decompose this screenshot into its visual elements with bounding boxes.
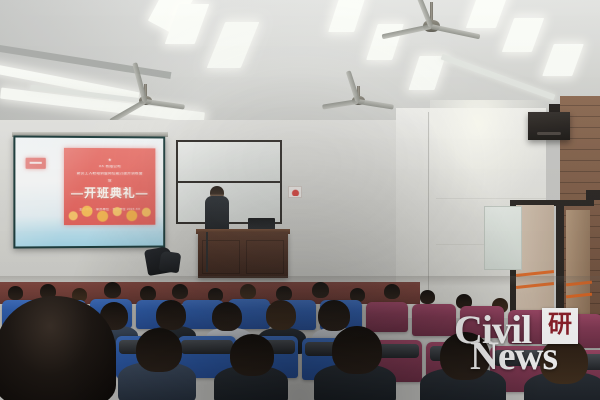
fan-blade bbox=[322, 99, 358, 110]
projection-screen: ★ XX 有限公司 新员工入职培训暨岗位能力提升训练营 暨 —开班典礼— 主办单… bbox=[13, 135, 165, 248]
slide-headline: —开班典礼— bbox=[64, 187, 155, 199]
ceiling-fan bbox=[388, 2, 474, 36]
watermark-badge-char: 研 bbox=[542, 312, 578, 336]
lecture-hall-photo: ★ XX 有限公司 新员工入职培训暨岗位能力提升训练营 暨 —开班典礼— 主办单… bbox=[0, 0, 600, 400]
fan-blade bbox=[145, 99, 185, 110]
slide-line-2: 新员工入职培训暨岗位能力提升训练营 bbox=[64, 172, 155, 176]
audience-head bbox=[140, 286, 156, 301]
wall-speaker bbox=[528, 112, 570, 140]
slide-gold-decoration bbox=[64, 202, 155, 225]
audience-head bbox=[384, 284, 400, 299]
audience-head bbox=[276, 286, 292, 301]
office-chair bbox=[159, 251, 182, 274]
ceiling-fan bbox=[110, 84, 180, 110]
wooden-podium bbox=[198, 232, 288, 278]
audience-head bbox=[312, 282, 329, 298]
audience-head bbox=[156, 300, 186, 330]
wall-panel-line bbox=[436, 198, 546, 199]
audience-head bbox=[104, 282, 121, 298]
foreground-audience-head bbox=[0, 296, 116, 400]
projected-slide: ★ XX 有限公司 新员工入职培训暨岗位能力提升训练营 暨 —开班典礼— 主办单… bbox=[15, 137, 163, 246]
audience-head bbox=[318, 300, 350, 331]
wall-notice-board bbox=[484, 206, 522, 270]
fan-blade bbox=[358, 99, 394, 110]
watermark-badge: 研 bbox=[542, 308, 578, 344]
slide-line-3: 暨 bbox=[64, 179, 155, 183]
seat-headrest-bar bbox=[181, 340, 232, 354]
microphone-stand bbox=[206, 232, 208, 272]
audience-head bbox=[332, 326, 382, 374]
audience-head bbox=[8, 286, 23, 300]
audience-head bbox=[212, 302, 242, 331]
podium-panel bbox=[246, 240, 284, 274]
audience-head bbox=[240, 284, 256, 299]
red-wall-sign bbox=[288, 186, 302, 198]
audience-head bbox=[230, 334, 274, 376]
watermark: Civil News 研 bbox=[446, 306, 594, 378]
audience-head bbox=[172, 284, 188, 299]
auditorium-seat[interactable] bbox=[366, 302, 408, 332]
ceiling-fan bbox=[326, 86, 390, 110]
slide-company-logo bbox=[26, 158, 46, 169]
audience-head bbox=[266, 300, 296, 330]
whiteboard-lower-pane bbox=[178, 183, 280, 222]
audience-head bbox=[420, 290, 435, 304]
wall-speaker-secondary bbox=[586, 190, 600, 200]
whiteboard-upper-pane bbox=[178, 142, 280, 181]
slide-star-glyph: ★ bbox=[64, 158, 155, 162]
whiteboard bbox=[176, 140, 282, 224]
slide-line-1: XX 有限公司 bbox=[64, 165, 155, 169]
audience-head bbox=[136, 328, 182, 372]
